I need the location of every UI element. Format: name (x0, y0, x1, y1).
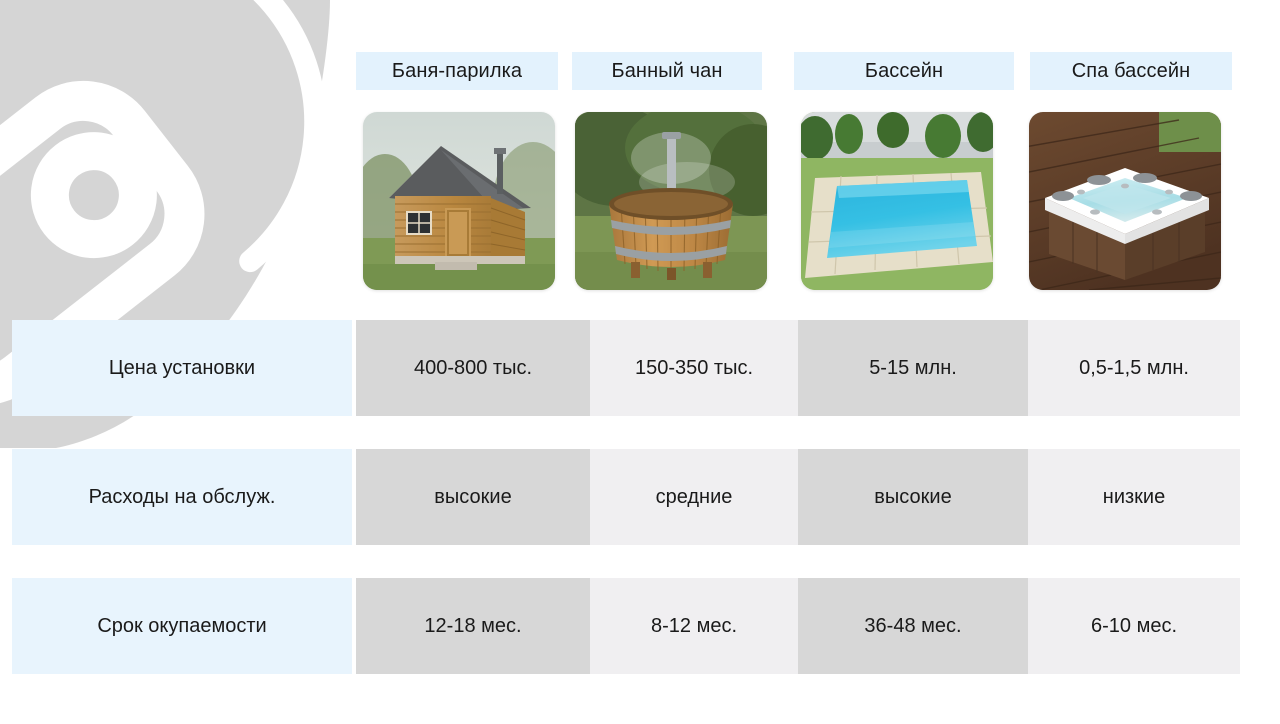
cell-value: 0,5-1,5 млн. (1079, 357, 1189, 380)
column-header-label: Баня-парилка (392, 60, 522, 83)
table-row: Цена установки 400-800 тыс. 150-350 тыс.… (0, 320, 1280, 416)
column-header-bassein: Бассейн (794, 52, 1014, 90)
table-row: Расходы на обслуж. высокие средние высок… (0, 449, 1280, 545)
cell-maintenance-banya: высокие (356, 449, 590, 545)
column-header-label: Бассейн (865, 60, 943, 83)
cell-payback-banya: 12-18 мес. (356, 578, 590, 674)
column-image-banya (363, 112, 555, 290)
cell-value: низкие (1103, 486, 1165, 509)
cell-payback-bassein: 36-48 мес. (798, 578, 1028, 674)
comparison-table-slide: Баня-парилка Банный чан Бассейн Спа басс… (0, 0, 1280, 724)
cell-value: 8-12 мес. (651, 615, 737, 638)
cell-value: средние (656, 486, 733, 509)
cell-payback-chan: 8-12 мес. (590, 578, 798, 674)
column-image-chan (575, 112, 767, 290)
row-label-text: Срок окупаемости (97, 615, 266, 638)
cell-value: 6-10 мес. (1091, 615, 1177, 638)
cell-value: 36-48 мес. (864, 615, 961, 638)
column-header-label: Спа бассейн (1072, 60, 1191, 83)
cell-value: высокие (434, 486, 511, 509)
column-header-spa: Спа бассейн (1030, 52, 1232, 90)
column-image-bassein (801, 112, 993, 290)
cell-price-spa: 0,5-1,5 млн. (1028, 320, 1240, 416)
cell-value: 150-350 тыс. (635, 357, 753, 380)
cell-price-bassein: 5-15 млн. (798, 320, 1028, 416)
cell-maintenance-bassein: высокие (798, 449, 1028, 545)
cell-price-chan: 150-350 тыс. (590, 320, 798, 416)
column-header-chan: Банный чан (572, 52, 762, 90)
row-label-price: Цена установки (12, 320, 352, 416)
row-label-text: Цена установки (109, 357, 255, 380)
cell-maintenance-spa: низкие (1028, 449, 1240, 545)
row-label-payback: Срок окупаемости (12, 578, 352, 674)
table-row: Срок окупаемости 12-18 мес. 8-12 мес. 36… (0, 578, 1280, 674)
cell-maintenance-chan: средние (590, 449, 798, 545)
row-label-maintenance: Расходы на обслуж. (12, 449, 352, 545)
column-image-spa (1029, 112, 1221, 290)
column-header-row: Баня-парилка Банный чан Бассейн Спа басс… (0, 52, 1280, 90)
column-header-label: Банный чан (611, 60, 722, 83)
cell-value: 400-800 тыс. (414, 357, 532, 380)
cell-value: 12-18 мес. (424, 615, 521, 638)
cell-value: 5-15 млн. (869, 357, 957, 380)
row-label-text: Расходы на обслуж. (89, 486, 276, 509)
cell-value: высокие (874, 486, 951, 509)
column-header-banya: Баня-парилка (356, 52, 558, 90)
cell-price-banya: 400-800 тыс. (356, 320, 590, 416)
cell-payback-spa: 6-10 мес. (1028, 578, 1240, 674)
